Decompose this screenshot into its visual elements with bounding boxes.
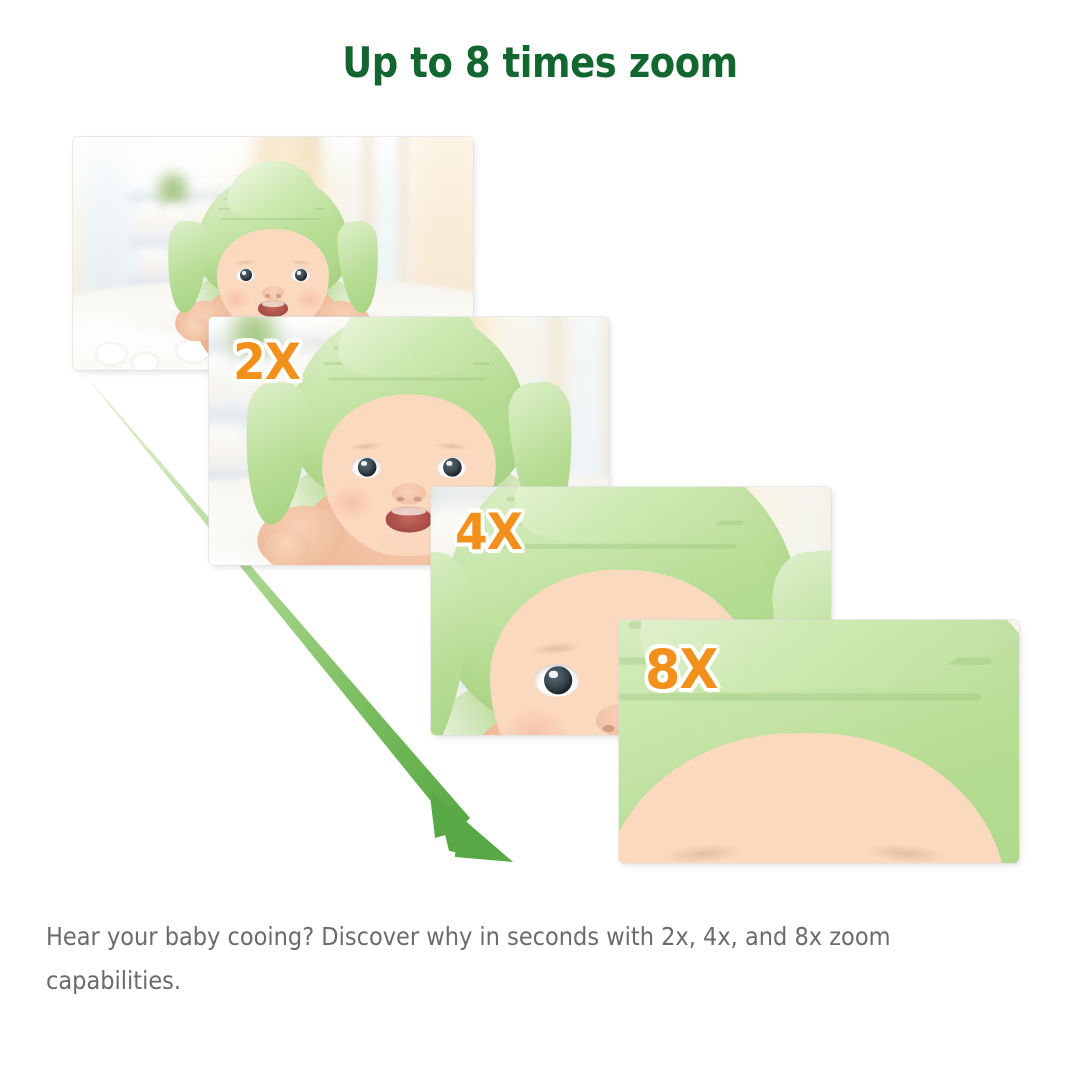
shelf-jar: [137, 204, 157, 232]
towel-fold: [500, 545, 736, 550]
cheek-left: [221, 287, 251, 311]
nostril-left: [265, 294, 270, 298]
towel-fold: [329, 378, 484, 381]
zoom-badge-2x: 2X: [233, 333, 300, 391]
photo-panel-8x[interactable]: 8X: [619, 620, 1019, 863]
eyebrow-left: [348, 441, 383, 452]
iris-left: [357, 457, 376, 476]
arrow-head-fill: [432, 792, 513, 862]
baby-hand-left: [179, 317, 209, 341]
shelf-jar: [141, 249, 165, 274]
arrow-head: [430, 795, 513, 862]
shelf-jar: [209, 356, 229, 399]
blanket-fluff: [97, 344, 125, 364]
towel-peak: [336, 317, 482, 378]
cheek-left: [328, 485, 375, 522]
towel-peak: [226, 159, 320, 218]
eye-right: [437, 456, 466, 478]
eyebrow-right: [290, 259, 312, 266]
eyebrow-left: [234, 259, 256, 266]
eye-left: [236, 268, 255, 282]
iris-right: [295, 269, 307, 281]
nostril-left: [603, 725, 615, 733]
eye-left: [352, 456, 381, 478]
eyebrow-left: [530, 641, 583, 657]
window-mullion: [607, 317, 609, 503]
zoom-badge-8x: 8X: [645, 638, 718, 701]
cheek-left: [499, 707, 570, 735]
zoom-badge-4x: 4X: [455, 503, 522, 561]
window-mullion: [401, 137, 407, 299]
nose: [262, 286, 284, 300]
iris-left: [543, 665, 571, 693]
nose: [392, 483, 426, 505]
nostril-right: [276, 294, 281, 298]
eyebrow-right: [435, 441, 470, 452]
eyebrow-right: [865, 841, 945, 863]
eye-right: [291, 268, 310, 282]
mouth: [258, 301, 288, 317]
page-title: Up to 8 times zoom: [65, 38, 1015, 87]
blanket-fluff: [133, 354, 157, 371]
iris-right: [442, 457, 461, 476]
eye-left: [535, 663, 580, 696]
towel-fold: [221, 218, 321, 220]
nostril-right: [414, 497, 422, 502]
mouth: [386, 507, 433, 532]
iris-left: [240, 269, 252, 281]
nostril-left: [397, 497, 405, 502]
feature-caption: Hear your baby cooing? Discover why in s…: [46, 915, 937, 1003]
baby-hand-left: [263, 531, 310, 565]
eyebrow-left: [664, 841, 744, 863]
shelf-jar: [209, 426, 242, 465]
